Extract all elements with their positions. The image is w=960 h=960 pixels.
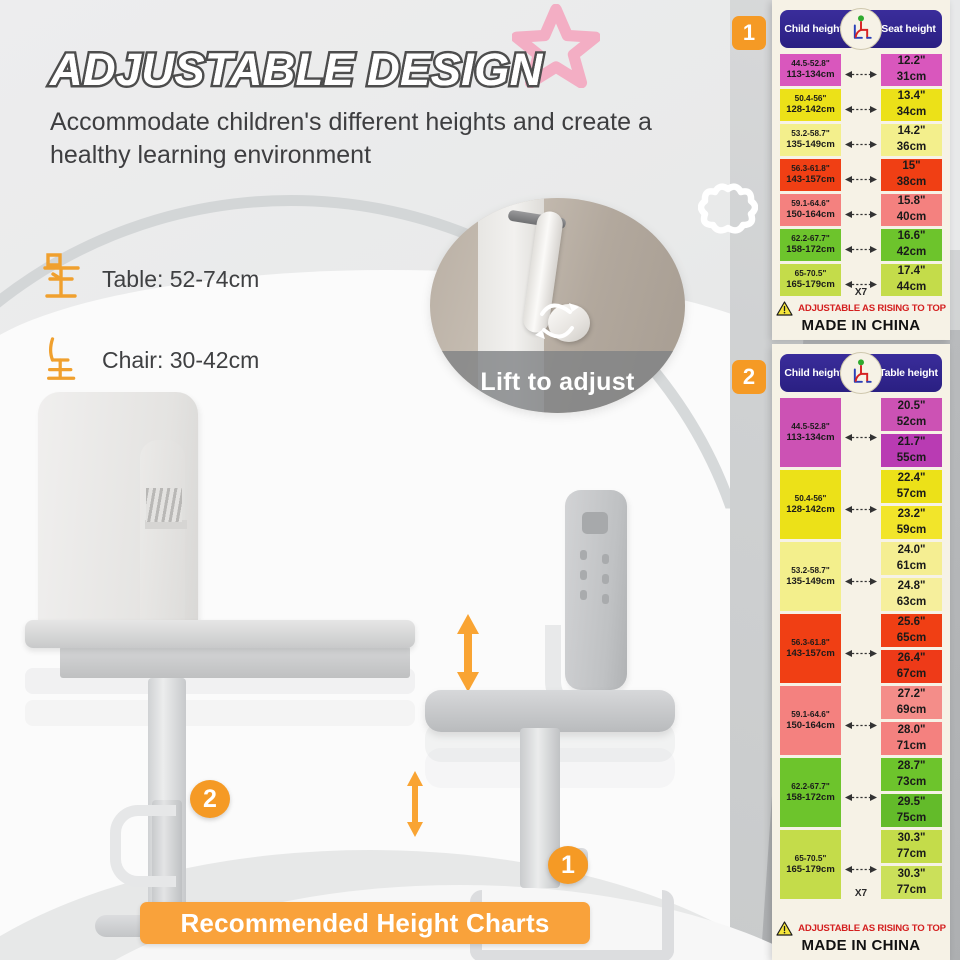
chart-body: 44.5-52.8" 113-134cm 50.4-56" 128-142cm … [780,54,942,299]
seat-height-cm: 42cm [897,245,926,261]
child-height-cm: 128-142cm [786,504,835,517]
chart-row-table-height: 21.7" 55cm [881,434,942,467]
table-height-inches: 26.4" [898,651,926,667]
chart-column-connector: X7 [841,54,881,299]
rotate-arrows-icon [534,288,580,348]
child-height-cm: 150-164cm [786,209,835,222]
table-height-inches: 29.5" [898,795,926,811]
chart-warning: ADJUSTABLE AS RISING TO TOP [772,921,950,936]
chart-row-table-height: 24.8" 63cm [881,578,942,611]
photo-badge-1: 1 [548,846,588,884]
chart-multiplier: X7 [841,888,881,899]
desk-crank-handle [110,805,176,887]
chart-footer: ADJUSTABLE AS RISING TO TOP MADE IN CHIN… [772,921,950,954]
span-arrow-icon [845,649,877,658]
chart-row-table-height: 22.4" 57cm [881,470,942,503]
table-height-inches: 22.4" [898,471,926,487]
chart-row-child-height: 44.5-52.8" 113-134cm [780,54,841,86]
desk-icon [42,252,88,306]
seat-height-cm: 44cm [897,280,926,296]
table-height-inches: 23.2" [898,507,926,523]
chair-seat [425,690,675,732]
chart-row-child-height: 59.1-64.6" 150-164cm [780,686,841,755]
chart-row-child-height: 59.1-64.6" 150-164cm [780,194,841,226]
table-height-cm: 63cm [897,595,926,611]
chart-row-table-height: 23.2" 59cm [881,506,942,539]
child-height-cm: 158-172cm [786,792,835,805]
chart-row-table-height: 28.7" 73cm [881,758,942,791]
warning-icon [776,301,793,316]
photo-badge-2: 2 [190,780,230,818]
seat-height-inches: 17.4" [898,264,926,280]
child-height-cm: 165-179cm [786,279,835,292]
chart-row-seat-height: 15.8" 40cm [881,194,942,226]
seat-height-cm: 31cm [897,70,926,86]
span-arrow-icon [845,865,877,874]
table-height-chart: 2 Child height Table height 44.5-52.8" 1… [772,344,950,960]
seat-height-chart: 1 Child height Seat height 44.5-52.8" 11… [772,0,950,340]
child-height-inches: 62.2-67.7" [791,233,829,244]
chart-column-child-height: 44.5-52.8" 113-134cm 50.4-56" 128-142cm … [780,398,841,902]
child-height-inches: 62.2-67.7" [791,781,829,792]
span-arrow-icon [845,505,877,514]
chair-backrest-handle-slot [582,512,608,534]
table-height-cm: 75cm [897,811,926,827]
chart-origin-text: MADE IN CHINA [772,317,950,334]
chair-height-arrow-icon [405,768,425,840]
table-height-cm: 61cm [897,559,926,575]
spec-table-label: Table: 52-74cm [102,266,259,293]
child-height-cm: 128-142cm [786,104,835,117]
desk-apron [60,646,410,678]
chart-row-table-height: 26.4" 67cm [881,650,942,683]
table-height-cm: 71cm [897,739,926,755]
table-height-cm: 67cm [897,667,926,683]
chart-row-seat-height: 12.2" 31cm [881,54,942,86]
table-height-inches: 24.8" [898,579,926,595]
table-height-inches: 30.3" [898,867,926,883]
child-height-inches: 59.1-64.6" [791,198,829,209]
chart-row-child-height: 56.3-61.8" 143-157cm [780,614,841,683]
chart-row-child-height: 65-70.5" 165-179cm [780,830,841,899]
span-arrow-icon [845,433,877,442]
chart-row-table-height: 20.5" 52cm [881,398,942,431]
child-height-inches: 44.5-52.8" [791,58,829,69]
child-height-inches: 56.3-61.8" [791,163,829,174]
table-height-cm: 65cm [897,631,926,647]
span-arrow-icon [845,210,877,219]
span-arrow-icon [845,105,877,114]
seat-height-cm: 36cm [897,140,926,156]
child-height-cm: 113-134cm [786,432,834,445]
seat-height-inches: 16.6" [898,229,926,245]
seated-child-icon [846,358,876,388]
chart-warning: ADJUSTABLE AS RISING TO TOP [772,301,950,316]
chart-row-child-height: 50.4-56" 128-142cm [780,470,841,539]
child-height-cm: 135-149cm [786,576,835,589]
table-height-inches: 27.2" [898,687,926,703]
chart-row-child-height: 56.3-61.8" 143-157cm [780,159,841,191]
child-height-cm: 165-179cm [786,864,835,877]
chart-column-seat-height: 12.2" 31cm 13.4" 34cm 14.2" 36cm 15" 38c… [881,54,942,299]
desk-ghost-low [25,700,415,726]
chart-row-table-height: 30.3" 77cm [881,830,942,863]
chart-badge: 2 [732,360,766,394]
seat-height-cm: 40cm [897,210,926,226]
table-height-cm: 73cm [897,775,926,791]
child-height-inches: 59.1-64.6" [791,709,829,720]
table-height-inches: 24.0" [898,543,926,559]
child-height-inches: 65-70.5" [795,268,827,279]
chart-row-seat-height: 15" 38cm [881,159,942,191]
table-height-inches: 21.7" [898,435,926,451]
chart-column-table-height: 20.5" 52cm 21.7" 55cm 22.4" 57cm 23.2" 5… [881,398,942,902]
chart-row-table-height: 27.2" 69cm [881,686,942,719]
span-arrow-icon [845,721,877,730]
child-height-cm: 143-157cm [786,648,835,661]
child-height-cm: 135-149cm [786,139,835,152]
desk-height-arrow-icon [455,610,481,696]
chart-row-child-height: 44.5-52.8" 113-134cm [780,398,841,467]
span-arrow-icon [845,175,877,184]
chart-row-child-height: 65-70.5" 165-179cm [780,264,841,296]
span-arrow-icon [845,577,877,586]
chart-row-table-height: 25.6" 65cm [881,614,942,647]
chart-row-child-height: 62.2-67.7" 158-172cm [780,229,841,261]
seated-child-icon [846,14,876,44]
chart-header-icon [840,352,882,394]
page-subtitle: Accommodate children's different heights… [50,106,690,173]
table-height-inches: 20.5" [898,399,926,415]
desk-hutch-side [140,440,185,620]
infographic-stage: ADJUSTABLE DESIGN ADJUSTABLE DESIGN Acco… [0,0,960,960]
chart-row-table-height: 28.0" 71cm [881,722,942,755]
seat-height-inches: 14.2" [898,124,926,140]
chart-row-table-height: 30.3" 77cm [881,866,942,899]
span-arrow-icon [845,793,877,802]
chart-column-connector: X7 [841,398,881,902]
child-height-inches: 50.4-56" [795,93,827,104]
table-height-cm: 69cm [897,703,926,719]
chart-row-seat-height: 16.6" 42cm [881,229,942,261]
seat-height-cm: 34cm [897,105,926,121]
seat-height-inches: 15.8" [898,194,926,210]
chart-footer: ADJUSTABLE AS RISING TO TOP MADE IN CHIN… [772,301,950,334]
desk-top [25,620,415,648]
child-height-inches: 44.5-52.8" [791,421,829,432]
child-height-inches: 53.2-58.7" [791,128,829,139]
chart-row-table-height: 29.5" 75cm [881,794,942,827]
child-height-cm: 150-164cm [786,720,835,733]
chart-column-child-height: 44.5-52.8" 113-134cm 50.4-56" 128-142cm … [780,54,841,299]
child-height-inches: 65-70.5" [795,853,827,864]
table-height-inches: 30.3" [898,831,926,847]
chart-row-seat-height: 13.4" 34cm [881,89,942,121]
table-height-inches: 25.6" [898,615,926,631]
span-arrow-icon [845,140,877,149]
table-height-cm: 55cm [897,451,926,467]
child-height-cm: 143-157cm [786,174,835,187]
chart-header: Child height Table height [780,354,942,392]
table-height-cm: 57cm [897,487,926,503]
chart-header-icon [840,8,882,50]
page-title: ADJUSTABLE DESIGN [50,44,543,96]
chart-row-child-height: 53.2-58.7" 135-149cm [780,542,841,611]
table-height-cm: 77cm [897,883,926,899]
warning-icon [776,921,793,936]
recommended-height-charts-banner: Recommended Height Charts [140,902,590,944]
child-height-cm: 158-172cm [786,244,835,257]
chart-row-child-height: 50.4-56" 128-142cm [780,89,841,121]
chart-warning-text: ADJUSTABLE AS RISING TO TOP [798,923,946,934]
chart-multiplier: X7 [841,287,881,298]
seat-height-cm: 38cm [897,175,926,191]
child-height-inches: 56.3-61.8" [791,637,829,648]
seat-height-inches: 12.2" [898,54,926,70]
child-height-inches: 53.2-58.7" [791,565,829,576]
child-height-cm: 113-134cm [786,69,834,82]
chart-origin-text: MADE IN CHINA [772,937,950,954]
chart-row-table-height: 24.0" 61cm [881,542,942,575]
seat-height-inches: 13.4" [898,89,926,105]
chart-header: Child height Seat height [780,10,942,48]
spec-table-height: Table: 52-74cm [42,252,259,306]
table-height-cm: 52cm [897,415,926,431]
chart-body: 44.5-52.8" 113-134cm 50.4-56" 128-142cm … [780,398,942,902]
table-height-inches: 28.0" [898,723,926,739]
chart-warning-text: ADJUSTABLE AS RISING TO TOP [798,303,946,314]
desk-hutch-books [146,488,182,522]
chart-row-seat-height: 17.4" 44cm [881,264,942,296]
chair-backrest-vents [578,548,618,620]
chart-row-seat-height: 14.2" 36cm [881,124,942,156]
product-photo [0,370,780,960]
seat-height-inches: 15" [902,159,920,175]
span-arrow-icon [845,70,877,79]
table-height-cm: 59cm [897,523,926,539]
span-arrow-icon [845,245,877,254]
table-height-cm: 77cm [897,847,926,863]
flower-icon [698,183,758,241]
chart-row-child-height: 53.2-58.7" 135-149cm [780,124,841,156]
chart-badge: 1 [732,16,766,50]
child-height-inches: 50.4-56" [795,493,827,504]
table-height-inches: 28.7" [898,759,926,775]
chart-row-child-height: 62.2-67.7" 158-172cm [780,758,841,827]
